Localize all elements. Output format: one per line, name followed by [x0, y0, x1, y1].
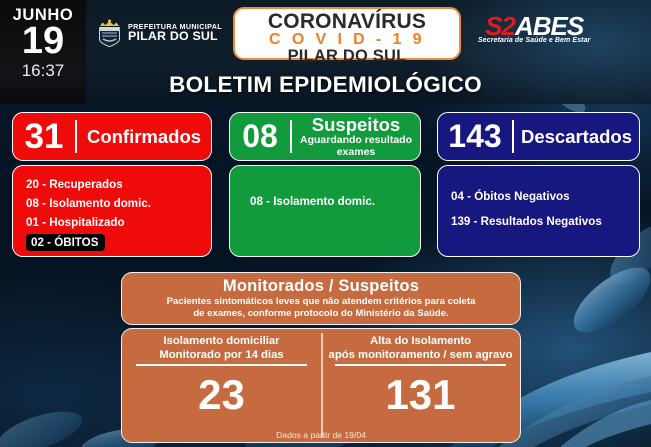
- underline-rule: [136, 364, 307, 366]
- panel-suspected-count: 08: [230, 118, 290, 155]
- prefeitura-line2: PILAR DO SUL: [128, 30, 222, 43]
- column-label-line1: Isolamento domiciliar: [122, 335, 321, 349]
- coat-of-arms-icon: [96, 19, 123, 47]
- panel-suspected: 08 Suspeitos Aguardando resultado exames…: [229, 112, 421, 257]
- monitored-column-discharged: Alta do Isolamento após monitoramento / …: [321, 329, 520, 442]
- monitored-title: Monitorados / Suspeitos: [130, 277, 512, 296]
- coronavirus-banner: CORONAVÍRUS C O V I D - 1 9 PILAR DO SUL: [233, 7, 461, 60]
- list-item: 08 - Isolamento domic.: [26, 194, 211, 213]
- panel-confirmed-breakdown: 20 - Recuperados 08 - Isolamento domic. …: [12, 165, 212, 257]
- panel-discarded-header: 143 Descartados: [437, 112, 640, 161]
- panel-confirmed-header: 31 Confirmados: [12, 112, 212, 161]
- prefeitura-logo: PREFEITURA MUNICIPAL PILAR DO SUL: [96, 18, 222, 48]
- list-item: 20 - Recuperados: [26, 175, 211, 194]
- monitored-subtitle-line2: de exames, conforme protocolo do Ministé…: [130, 308, 512, 320]
- banner-line-city: PILAR DO SUL: [235, 48, 459, 65]
- column-value: 23: [122, 372, 321, 418]
- monitored-subtitle-line1: Pacientes sintomáticos leves que não ate…: [130, 296, 512, 308]
- panel-confirmed-count: 31: [13, 117, 75, 157]
- panel-discarded-breakdown: 04 - Óbitos Negativos 139 - Resultados N…: [437, 165, 640, 257]
- monitored-body: Isolamento domiciliar Monitorado por 14 …: [121, 328, 521, 443]
- column-value: 131: [321, 372, 520, 418]
- health-department-logo: S2ABES Secretaria de Saúde e Bem Estar: [478, 13, 590, 44]
- monitored-column-isolation: Isolamento domiciliar Monitorado por 14 …: [122, 329, 321, 442]
- banner-line-covid19: C O V I D - 1 9: [235, 32, 459, 48]
- banner-line-coronavirus: CORONAVÍRUS: [235, 11, 459, 32]
- column-label-line1: Alta do Isolamento: [321, 335, 520, 349]
- list-item: 01 - Hospitalizado: [26, 213, 211, 232]
- date-block: JUNHO 19 16:37: [0, 6, 86, 81]
- panel-discarded-label: Descartados: [518, 127, 635, 147]
- list-item: 08 - Isolamento domic.: [250, 192, 420, 211]
- column-label-line2: Monitorado por 14 dias: [122, 349, 321, 363]
- panel-monitored: Monitorados / Suspeitos Pacientes sintom…: [121, 272, 521, 443]
- monitored-header: Monitorados / Suspeitos Pacientes sintom…: [121, 272, 521, 325]
- panel-suspected-label: Suspeitos: [296, 115, 416, 135]
- column-label-line2: após monitoramento / sem agravo: [321, 349, 520, 363]
- list-item: 04 - Óbitos Negativos: [451, 184, 639, 209]
- date-day: 19: [0, 22, 86, 60]
- monitored-footnote: Dados a partir de 19/04: [122, 430, 520, 440]
- panel-suspected-header: 08 Suspeitos Aguardando resultado exames: [229, 112, 421, 161]
- panel-discarded-count: 143: [438, 118, 512, 155]
- panel-suspected-sublabel: Aguardando resultado exames: [296, 135, 416, 158]
- panel-confirmed: 31 Confirmados 20 - Recuperados 08 - Iso…: [12, 112, 212, 257]
- panel-discarded: 143 Descartados 04 - Óbitos Negativos 13…: [437, 112, 640, 257]
- panel-suspected-breakdown: 08 - Isolamento domic.: [229, 165, 421, 257]
- panel-confirmed-label: Confirmados: [81, 127, 207, 147]
- list-item: 139 - Resultados Negativos: [451, 209, 639, 234]
- underline-rule: [335, 364, 506, 366]
- logo-subtitle: Secretaria de Saúde e Bem Estar: [478, 37, 590, 44]
- page-title: BOLETIM EPIDEMIOLÓGICO: [0, 72, 651, 98]
- deaths-highlight-badge: 02 - ÓBITOS: [26, 234, 105, 251]
